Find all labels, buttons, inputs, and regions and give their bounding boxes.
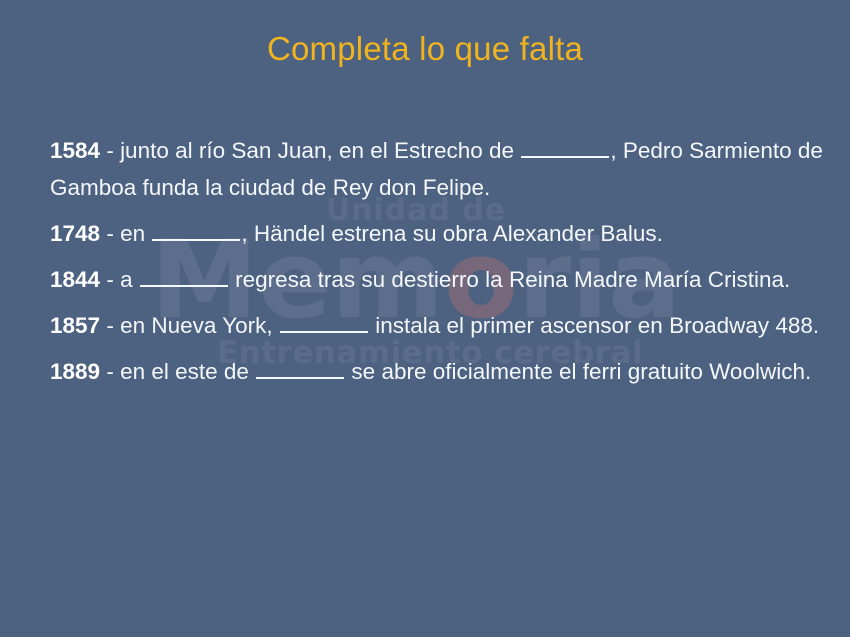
blank-field[interactable] <box>280 313 368 333</box>
entry-dash: - <box>100 138 120 163</box>
entry-year: 1889 <box>50 359 100 384</box>
entry-text-after: , Händel estrena su obra Alexander Balus… <box>241 221 663 246</box>
entry-text-before: en <box>120 221 151 246</box>
entry-dash: - <box>100 221 120 246</box>
entry-text-before: en el este de <box>120 359 255 384</box>
list-item: 1889 - en el este de se abre oficialment… <box>50 353 825 390</box>
entry-text-after: regresa tras su destierro la Reina Madre… <box>229 267 790 292</box>
entry-year: 1584 <box>50 138 100 163</box>
entry-year: 1748 <box>50 221 100 246</box>
blank-field[interactable] <box>140 267 228 287</box>
entry-year: 1857 <box>50 313 100 338</box>
entry-dash: - <box>100 359 120 384</box>
entry-year: 1844 <box>50 267 100 292</box>
entry-text-before: a <box>120 267 139 292</box>
list-item: 1857 - en Nueva York, instala el primer … <box>50 307 825 344</box>
entries-list: 1584 - junto al río San Juan, en el Estr… <box>50 132 825 390</box>
entry-dash: - <box>100 313 120 338</box>
slide-canvas: Unidad de Memoria Entrenamiento cerebral… <box>0 0 850 637</box>
blank-field[interactable] <box>521 138 609 158</box>
list-item: 1748 - en , Händel estrena su obra Alexa… <box>50 215 825 252</box>
entry-text-before: junto al río San Juan, en el Estrecho de <box>120 138 520 163</box>
blank-field[interactable] <box>256 359 344 379</box>
entry-text-after: instala el primer ascensor en Broadway 4… <box>369 313 819 338</box>
entry-dash: - <box>100 267 120 292</box>
page-title: Completa lo que falta <box>0 30 850 68</box>
entry-text-after: se abre oficialmente el ferri gratuito W… <box>345 359 811 384</box>
entry-text-before: en Nueva York, <box>120 313 279 338</box>
list-item: 1844 - a regresa tras su destierro la Re… <box>50 261 825 298</box>
list-item: 1584 - junto al río San Juan, en el Estr… <box>50 132 825 206</box>
blank-field[interactable] <box>152 221 240 241</box>
